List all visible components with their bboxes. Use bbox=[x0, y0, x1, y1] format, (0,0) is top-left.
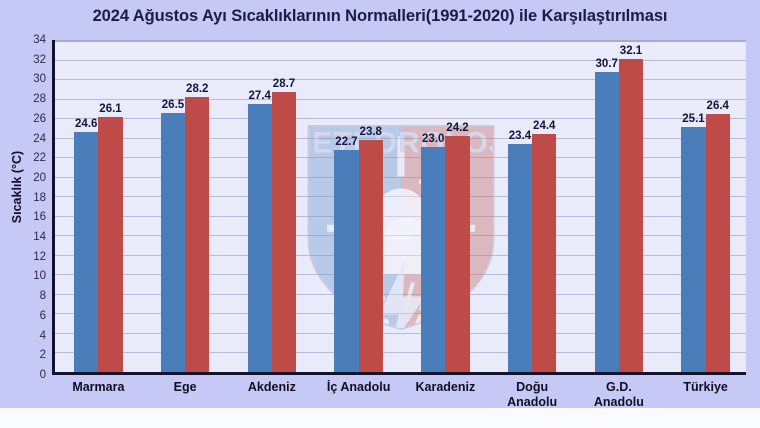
bar-group: 27.428.7 bbox=[248, 40, 297, 372]
bar[interactable]: 28.7 bbox=[272, 92, 296, 372]
bar-group: 24.626.1 bbox=[74, 40, 123, 372]
bar-group: 25.126.4 bbox=[681, 40, 730, 372]
chart-container: 2024 Ağustos Ayı Sıcaklıklarının Normall… bbox=[0, 0, 760, 428]
y-axis-tick-label: 30 bbox=[12, 73, 46, 85]
bar[interactable]: 25.1 bbox=[681, 127, 705, 372]
x-axis-category-label: Doğu Anadolu bbox=[489, 380, 576, 410]
bar-value-label: 23.4 bbox=[509, 130, 531, 142]
bar-group: 23.424.4 bbox=[508, 40, 557, 372]
bar-value-label: 23.0 bbox=[422, 133, 444, 145]
x-axis-category-label: Türkiye bbox=[662, 380, 749, 395]
y-axis-tick-label: 0 bbox=[12, 369, 46, 381]
bar-value-label: 25.1 bbox=[682, 113, 704, 125]
plot-area: METEOROLOJİ 24.626.126.528.227.428.722.7… bbox=[52, 40, 746, 375]
y-axis-tick-label: 12 bbox=[12, 251, 46, 263]
y-axis-tick-label: 4 bbox=[12, 330, 46, 342]
bar-value-label: 32.1 bbox=[620, 45, 642, 57]
bar-group: 23.024.2 bbox=[421, 40, 470, 372]
bar-value-label: 27.4 bbox=[249, 90, 271, 102]
bar[interactable]: 28.2 bbox=[185, 97, 209, 372]
y-axis-tick-label: 18 bbox=[12, 192, 46, 204]
bar[interactable]: 23.8 bbox=[359, 140, 383, 372]
bar-value-label: 26.5 bbox=[162, 99, 184, 111]
bar-value-label: 24.6 bbox=[75, 118, 97, 130]
x-axis-category-label: G.D. Anadolu bbox=[576, 380, 663, 410]
y-axis-tick-label: 32 bbox=[12, 54, 46, 66]
bar-value-label: 22.7 bbox=[335, 136, 357, 148]
bars-layer: 24.626.126.528.227.428.722.723.823.024.2… bbox=[55, 40, 746, 372]
bar-value-label: 23.8 bbox=[360, 126, 382, 138]
x-axis-category-label: Marmara bbox=[55, 380, 142, 395]
y-axis-tick-label: 26 bbox=[12, 113, 46, 125]
y-axis-title: Sıcaklık (°C) bbox=[10, 127, 24, 247]
bar[interactable]: 24.2 bbox=[445, 136, 469, 372]
bar-group: 22.723.8 bbox=[334, 40, 383, 372]
bar[interactable]: 27.4 bbox=[248, 104, 272, 372]
y-axis-tick-label: 28 bbox=[12, 93, 46, 105]
y-axis-tick-label: 8 bbox=[12, 290, 46, 302]
y-axis-tick-label: 2 bbox=[12, 349, 46, 361]
x-axis-category-label: Akdeniz bbox=[229, 380, 316, 395]
bar-group: 26.528.2 bbox=[161, 40, 210, 372]
x-axis-category-label: Karadeniz bbox=[402, 380, 489, 395]
x-axis-category-label: Ege bbox=[142, 380, 229, 395]
bar[interactable]: 26.1 bbox=[98, 117, 122, 372]
bar-group: 30.732.1 bbox=[595, 40, 644, 372]
bar-value-label: 26.1 bbox=[99, 103, 121, 115]
bar-value-label: 30.7 bbox=[596, 58, 618, 70]
bar[interactable]: 30.7 bbox=[595, 72, 619, 372]
bar-value-label: 28.7 bbox=[273, 78, 295, 90]
footer-strip bbox=[0, 408, 760, 428]
bar[interactable]: 24.4 bbox=[532, 134, 556, 372]
y-axis-tick-label: 20 bbox=[12, 172, 46, 184]
bar-value-label: 28.2 bbox=[186, 83, 208, 95]
y-axis-tick-label: 34 bbox=[12, 34, 46, 46]
chart-title: 2024 Ağustos Ayı Sıcaklıklarının Normall… bbox=[0, 7, 760, 26]
bar-value-label: 24.2 bbox=[446, 122, 468, 134]
bar[interactable]: 24.6 bbox=[74, 132, 98, 372]
y-axis-tick-label: 14 bbox=[12, 231, 46, 243]
y-axis-tick-label: 22 bbox=[12, 152, 46, 164]
y-axis-tick-label: 16 bbox=[12, 211, 46, 223]
bar-value-label: 26.4 bbox=[707, 100, 729, 112]
y-axis-tick-label: 6 bbox=[12, 310, 46, 322]
bar[interactable]: 23.4 bbox=[508, 144, 532, 372]
bar-value-label: 24.4 bbox=[533, 120, 555, 132]
bar[interactable]: 32.1 bbox=[619, 59, 643, 372]
bar[interactable]: 26.4 bbox=[706, 114, 730, 372]
y-axis-tick-label: 10 bbox=[12, 270, 46, 282]
bar[interactable]: 22.7 bbox=[334, 150, 358, 372]
x-axis-category-label: İç Anadolu bbox=[315, 380, 402, 395]
y-axis-tick-label: 24 bbox=[12, 133, 46, 145]
bar[interactable]: 26.5 bbox=[161, 113, 185, 372]
bar[interactable]: 23.0 bbox=[421, 147, 445, 372]
